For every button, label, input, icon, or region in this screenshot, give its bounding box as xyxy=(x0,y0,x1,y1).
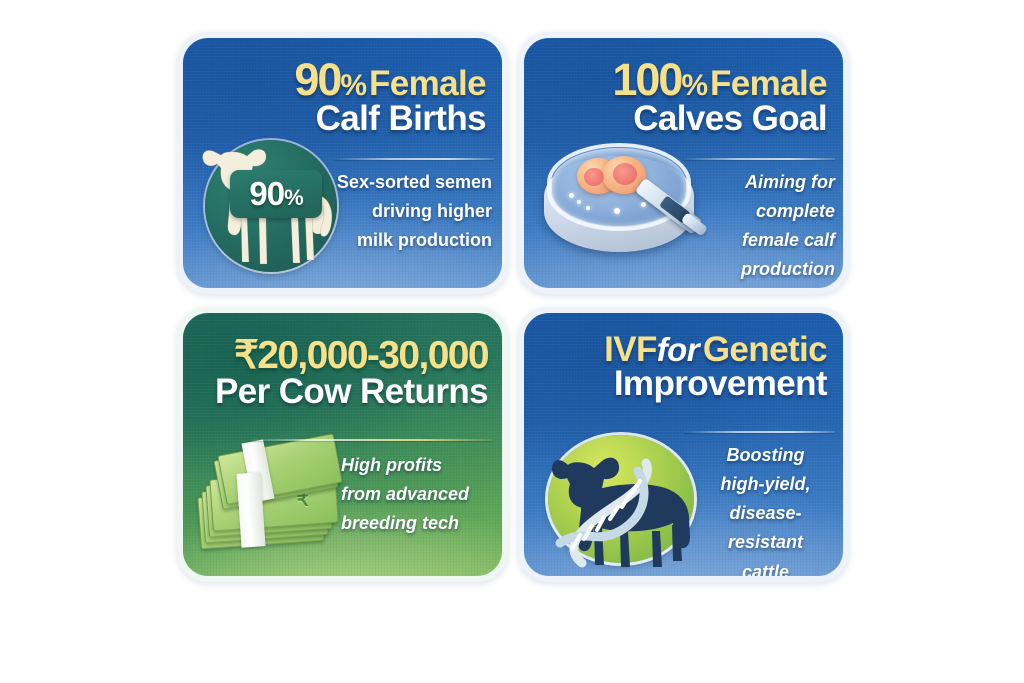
sparkle-dot xyxy=(641,202,646,207)
description-line: high-yield, xyxy=(692,470,839,499)
sparkle-dot xyxy=(586,206,590,210)
embryo-nucleus-right xyxy=(613,163,637,185)
cow-in-teal-circle-illustration: 90% xyxy=(197,134,349,276)
description-line: female calf xyxy=(674,226,835,255)
sparkle-dot xyxy=(577,200,581,204)
description-line: milk production xyxy=(333,226,492,255)
headline-line-1: 90% Female xyxy=(201,58,486,102)
card-surface: IVFfor Genetic Improvement Boosting high… xyxy=(524,313,843,576)
headline-percent-sign: % xyxy=(681,69,706,102)
badge-percent-sign: % xyxy=(284,185,303,210)
card-female-calf-births[interactable]: 90% 90% Female Calf Births Sex-sorted se… xyxy=(177,32,508,294)
headline-line-1: 100% Female xyxy=(542,58,827,102)
card-ivf-genetic-improvement[interactable]: IVFfor Genetic Improvement Boosting high… xyxy=(518,307,849,582)
card-headline: 90% Female Calf Births xyxy=(201,58,486,136)
headline-word-gold: Female xyxy=(710,64,827,103)
card-headline: 100% Female Calves Goal xyxy=(542,58,827,136)
description-line: cattle xyxy=(692,558,839,576)
description-line: Boosting xyxy=(692,441,839,470)
headline-percent-sign: % xyxy=(340,69,365,102)
description-line: driving higher xyxy=(333,197,492,226)
headline-divider xyxy=(247,439,492,441)
badge-90-percent: 90% xyxy=(230,170,322,218)
card-description: Aiming for complete female calf producti… xyxy=(674,168,835,285)
headline-line-2: Calves Goal xyxy=(542,102,827,136)
sparkle-dot xyxy=(569,193,574,198)
card-description: Boosting high-yield, disease-resistant c… xyxy=(692,441,839,576)
headline-line-2: Calf Births xyxy=(201,102,486,136)
description-line: High profits xyxy=(341,451,496,480)
card-surface: ₹ ₹ ₹ ₹20,000-30,000 Per Cow Returns Hig… xyxy=(183,313,502,576)
card-description: High profits from advanced breeding tech xyxy=(341,451,496,538)
description-line: breeding tech xyxy=(341,509,496,538)
headline-amount: ₹20,000-30,000 xyxy=(193,337,488,375)
card-per-cow-returns[interactable]: ₹ ₹ ₹ ₹20,000-30,000 Per Cow Returns Hig… xyxy=(177,307,508,582)
cash-band xyxy=(236,472,265,547)
card-headline: IVFfor Genetic Improvement xyxy=(542,333,827,401)
dark-cow-silhouette-icon xyxy=(534,431,706,571)
headline-divider xyxy=(684,431,835,433)
headline-line-1: IVFfor Genetic xyxy=(542,333,827,367)
description-line: from advanced xyxy=(341,480,496,509)
headline-line-2: Improvement xyxy=(542,367,827,401)
badge-value: 90 xyxy=(249,175,284,212)
headline-divider xyxy=(684,158,835,160)
headline-word-italic: for xyxy=(657,331,699,368)
card-description: Sex-sorted semen driving higher milk pro… xyxy=(333,168,492,255)
headline-word-gold: Female xyxy=(369,64,486,103)
headline-stat-value: 100 xyxy=(612,54,681,105)
card-headline: ₹20,000-30,000 Per Cow Returns xyxy=(193,337,488,409)
headline-line-2: Per Cow Returns xyxy=(193,375,488,409)
infographic-canvas: 90% 90% Female Calf Births Sex-sorted se… xyxy=(0,0,1024,683)
description-line: Sex-sorted semen xyxy=(333,168,492,197)
headline-stat-value: 90 xyxy=(294,54,340,105)
headline-divider xyxy=(335,158,494,160)
embryo-nucleus-left xyxy=(584,168,604,186)
sparkle-dot xyxy=(614,208,620,214)
card-surface: 90% 90% Female Calf Births Sex-sorted se… xyxy=(183,38,502,288)
cow-dna-illustration xyxy=(534,431,706,571)
cash-stack-illustration: ₹ ₹ ₹ xyxy=(195,441,355,567)
description-line: production xyxy=(674,255,835,284)
card-female-calves-goal[interactable]: 100% Female Calves Goal Aiming for compl… xyxy=(518,32,849,294)
description-line: disease-resistant xyxy=(692,499,839,557)
description-line: Aiming for complete xyxy=(674,168,835,226)
card-surface: 100% Female Calves Goal Aiming for compl… xyxy=(524,38,843,288)
